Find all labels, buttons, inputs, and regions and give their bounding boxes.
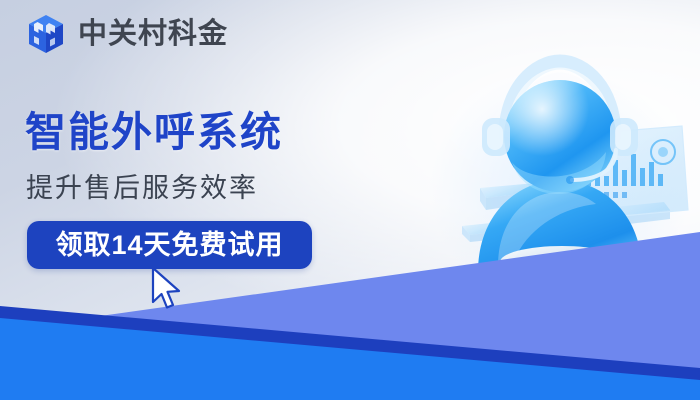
cube-logo-icon <box>24 12 68 56</box>
microphone-tip-icon <box>566 176 574 184</box>
pedestal-platform-icon <box>458 246 672 330</box>
headset-avatar-head-icon <box>504 80 616 192</box>
avatar-body-dome-icon <box>478 180 642 272</box>
brand-name: 中关村科金 <box>78 20 228 49</box>
microphone-boom-icon <box>572 150 616 180</box>
avatar-body-base <box>478 259 642 285</box>
brand-logo[interactable]: 中关村科金 <box>24 12 228 56</box>
headset-earcup-right-icon <box>610 118 638 156</box>
floating-bar-right-icon <box>606 202 670 226</box>
head-lower-reflection <box>512 152 606 194</box>
page-title: 智能外呼系统 <box>25 112 283 153</box>
head-specular-highlight <box>504 80 616 192</box>
free-trial-cta-button[interactable]: 领取14天免费试用 <box>27 221 312 269</box>
avatar-body-highlight <box>498 192 596 266</box>
headset-icon <box>506 62 614 136</box>
glass-dashboard-panel-icon <box>572 126 688 220</box>
mouse-pointer-icon <box>150 266 184 312</box>
customer-service-illustration <box>420 40 700 330</box>
illustration-glow <box>430 70 690 310</box>
floating-bars-icon <box>462 182 552 242</box>
promo-banner: 中关村科金 智能外呼系统 提升售后服务效率 领取14天免费试用 <box>0 0 700 400</box>
headset-highlight <box>510 70 610 134</box>
page-subtitle: 提升售后服务效率 <box>26 175 258 202</box>
headset-earcup-left-icon <box>482 118 510 156</box>
